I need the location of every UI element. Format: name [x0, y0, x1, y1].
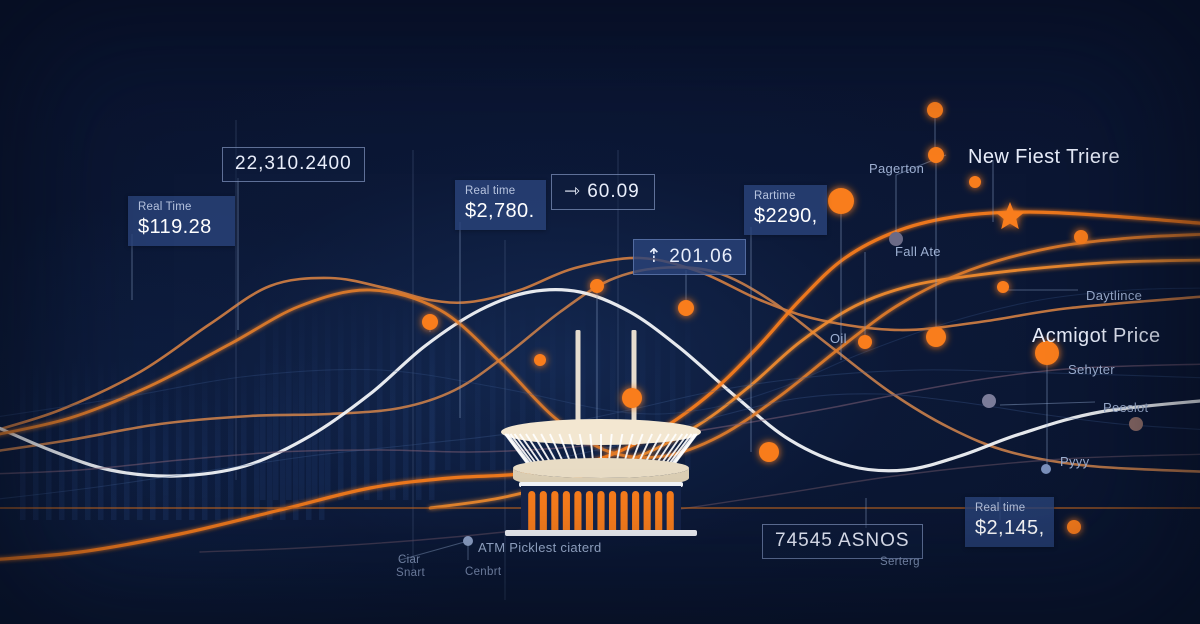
chart-canvas: Real Time$119.28Real time$2,780.Rartime$…: [0, 0, 1200, 624]
data-point-marker[interactable]: [997, 281, 1009, 293]
data-point-marker[interactable]: [678, 300, 694, 316]
atm-picklest-label: ATM Picklest ciaterd: [478, 540, 602, 555]
chip-title: Real Time: [138, 201, 226, 215]
index-value-box[interactable]: 22,310.2400: [222, 147, 365, 182]
snart-label: Snart: [396, 567, 425, 579]
data-point-marker[interactable]: [926, 327, 946, 347]
data-point-marker[interactable]: [828, 188, 854, 214]
data-point-marker[interactable]: [590, 279, 604, 293]
cenbrt-label: Cenbrt: [465, 566, 501, 578]
serterg-label: Serterg: [880, 556, 920, 568]
chip-title: Real time: [465, 185, 537, 199]
data-point-marker[interactable]: [534, 354, 546, 366]
data-point-marker[interactable]: [928, 147, 944, 163]
acmigot-price-label: Acmigot Price: [1032, 325, 1161, 348]
data-point-marker[interactable]: [622, 388, 642, 408]
data-point-marker[interactable]: [1041, 464, 1051, 474]
sehyter-label: Sehyter: [1068, 362, 1115, 377]
quote-value-box[interactable]: ⇡ 201.06: [633, 239, 746, 275]
data-point-marker[interactable]: [1129, 417, 1143, 431]
rartime-chip[interactable]: Rartime$2290,: [744, 185, 827, 235]
data-point-marker[interactable]: [982, 394, 996, 408]
fall-ate-label: Fall Ate: [895, 244, 941, 259]
chip-title: Rartime: [754, 190, 818, 204]
chip-value: $2290,: [754, 205, 818, 229]
data-point-marker[interactable]: [969, 176, 981, 188]
chip-title: Real time: [975, 502, 1045, 516]
star-marker[interactable]: [996, 202, 1025, 229]
change-value-box[interactable]: ⇾ 60.09: [551, 174, 655, 210]
chip-value: $2,780.: [465, 200, 537, 224]
data-point-marker[interactable]: [463, 536, 473, 546]
real-time-bottom-chip[interactable]: Real time$2,145,: [965, 497, 1054, 547]
chip-value: $2,145,: [975, 517, 1045, 541]
oil-label: Oil: [830, 331, 847, 346]
pagerton-label: Pagerton: [869, 161, 924, 176]
data-point-marker[interactable]: [1074, 230, 1088, 244]
volume-value-box[interactable]: 74545 ASNOS: [762, 524, 923, 559]
new-fiest-triere-label: New Fiest Triere: [968, 146, 1120, 169]
ciar-label: Ciar: [398, 554, 420, 566]
data-point-marker[interactable]: [422, 314, 438, 330]
daytlince-label: Daytlince: [1086, 288, 1142, 303]
pyyy-label: Pyyy: [1060, 454, 1089, 469]
data-point-marker[interactable]: [1067, 520, 1081, 534]
real-time-price-chip[interactable]: Real Time$119.28: [128, 196, 235, 246]
real-time-secondary-chip[interactable]: Real time$2,780.: [455, 180, 546, 230]
data-point-marker[interactable]: [927, 102, 943, 118]
chip-value: $119.28: [138, 216, 226, 240]
peeslot-label: Peeslot: [1103, 400, 1148, 415]
data-point-marker[interactable]: [858, 335, 872, 349]
data-point-marker[interactable]: [759, 442, 779, 462]
